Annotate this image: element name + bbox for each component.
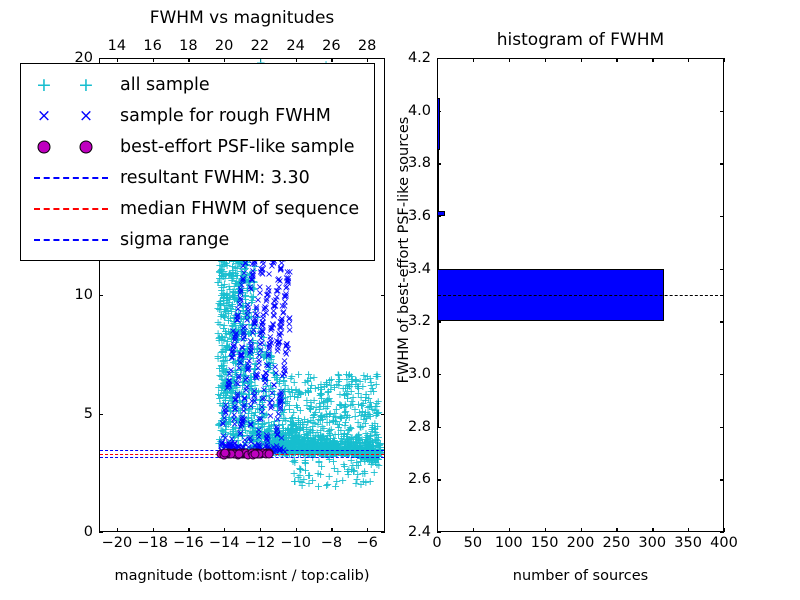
legend-item[interactable]: ++all sample	[28, 69, 365, 100]
histogram-xtick-label: 250	[603, 535, 631, 551]
histogram-ytick-label: 2.4	[408, 524, 431, 540]
histogram-bar	[438, 211, 445, 216]
legend-item[interactable]: ××sample for rough FWHM	[28, 100, 365, 131]
scatter-title: FWHM vs magnitudes	[99, 8, 385, 28]
histogram-bar	[438, 374, 439, 427]
scatter-ytick-label: 0	[84, 524, 93, 540]
histogram-xtick-label: 300	[638, 535, 666, 551]
legend-item[interactable]: resultant FWHM: 3.30	[28, 162, 365, 193]
scatter-xtick-label: −6	[356, 535, 377, 551]
scatter-hline	[100, 454, 384, 455]
scatter-xtick-label: −18	[137, 535, 168, 551]
legend-item-label: median FHWM of sequence	[114, 199, 359, 219]
histogram-bar	[438, 150, 439, 211]
histogram-ytick-label: 2.6	[408, 471, 431, 487]
legend-marker-dot-icon	[28, 134, 114, 160]
scatter-xtick-label: −12	[245, 535, 276, 551]
scatter-ytick-label: 10	[75, 287, 93, 303]
scatter-xlabel: magnitude (bottom:isnt / top:calib)	[99, 568, 385, 584]
scatter-top-xtick-label: 14	[108, 38, 126, 54]
legend-item[interactable]: median FHWM of sequence	[28, 193, 365, 224]
histogram-xtick-label: 0	[432, 535, 441, 551]
scatter-top-xtick-label: 20	[215, 38, 233, 54]
legend-item-label: resultant FWHM: 3.30	[114, 168, 310, 188]
histogram-ytick-label: 4.0	[408, 103, 431, 119]
histogram-ytick-label: 4.2	[408, 50, 431, 66]
scatter-hline	[100, 450, 384, 451]
histogram-bar	[438, 321, 439, 374]
histogram-data-layer	[438, 59, 723, 531]
scatter-hline	[100, 457, 384, 458]
legend-marker-dashed-icon	[28, 165, 114, 191]
scatter-top-xtick-label: 18	[179, 38, 197, 54]
scatter-xtick-label: −8	[321, 535, 342, 551]
legend-item[interactable]: best-effort PSF-like sample	[28, 131, 365, 162]
legend-item[interactable]: sigma range	[28, 224, 365, 255]
scatter-top-xtick-label: 16	[143, 38, 161, 54]
legend-marker-dashdot-icon	[28, 227, 114, 253]
legend-marker-cross-icon: ××	[28, 103, 114, 129]
scatter-xtick-label: −20	[102, 535, 133, 551]
legend-item-label: best-effort PSF-like sample	[114, 137, 355, 157]
histogram-xtick-label: 50	[464, 535, 482, 551]
histogram-xtick-label: 350	[674, 535, 702, 551]
histogram-xtick-label: 150	[531, 535, 559, 551]
scatter-xtick-label: −14	[209, 535, 240, 551]
legend-item-label: sample for rough FWHM	[114, 106, 331, 126]
legend-item-label: all sample	[114, 75, 210, 95]
scatter-xtick-label: −10	[280, 535, 311, 551]
scatter-top-xtick-label: 24	[286, 38, 304, 54]
histogram-ytick-label: 2.8	[408, 419, 431, 435]
histogram-ytick-label: 3.2	[408, 313, 431, 329]
histogram-xlabel: number of sources	[437, 568, 724, 584]
histogram-median-line	[438, 295, 723, 296]
histogram-bar	[438, 216, 439, 269]
histogram-xtick-label: 200	[567, 535, 595, 551]
scatter-xtick-label: −16	[173, 535, 204, 551]
legend-item-label: sigma range	[114, 230, 229, 250]
figure-canvas: FWHM vs magnitudes magnitude (bottom:isn…	[0, 0, 800, 600]
legend-marker-dashed-icon	[28, 196, 114, 222]
histogram-title: histogram of FWHM	[437, 30, 724, 50]
histogram-bar	[438, 98, 440, 151]
histogram-ytick-label: 3.6	[408, 208, 431, 224]
scatter-top-xtick-label: 22	[251, 38, 269, 54]
histogram-xtick-label: 400	[710, 535, 738, 551]
scatter-top-xtick-label: 28	[358, 38, 376, 54]
histogram-ytick-label: 3.4	[408, 261, 431, 277]
legend[interactable]: ++all sample××sample for rough FWHMbest-…	[20, 63, 375, 261]
legend-marker-plus-icon: ++	[28, 72, 114, 98]
scatter-ytick-label: 5	[84, 406, 93, 422]
histogram-xtick-label: 100	[495, 535, 523, 551]
histogram-ytick-label: 3.8	[408, 155, 431, 171]
histogram-ytick-label: 3.0	[408, 366, 431, 382]
scatter-top-xtick-label: 26	[322, 38, 340, 54]
